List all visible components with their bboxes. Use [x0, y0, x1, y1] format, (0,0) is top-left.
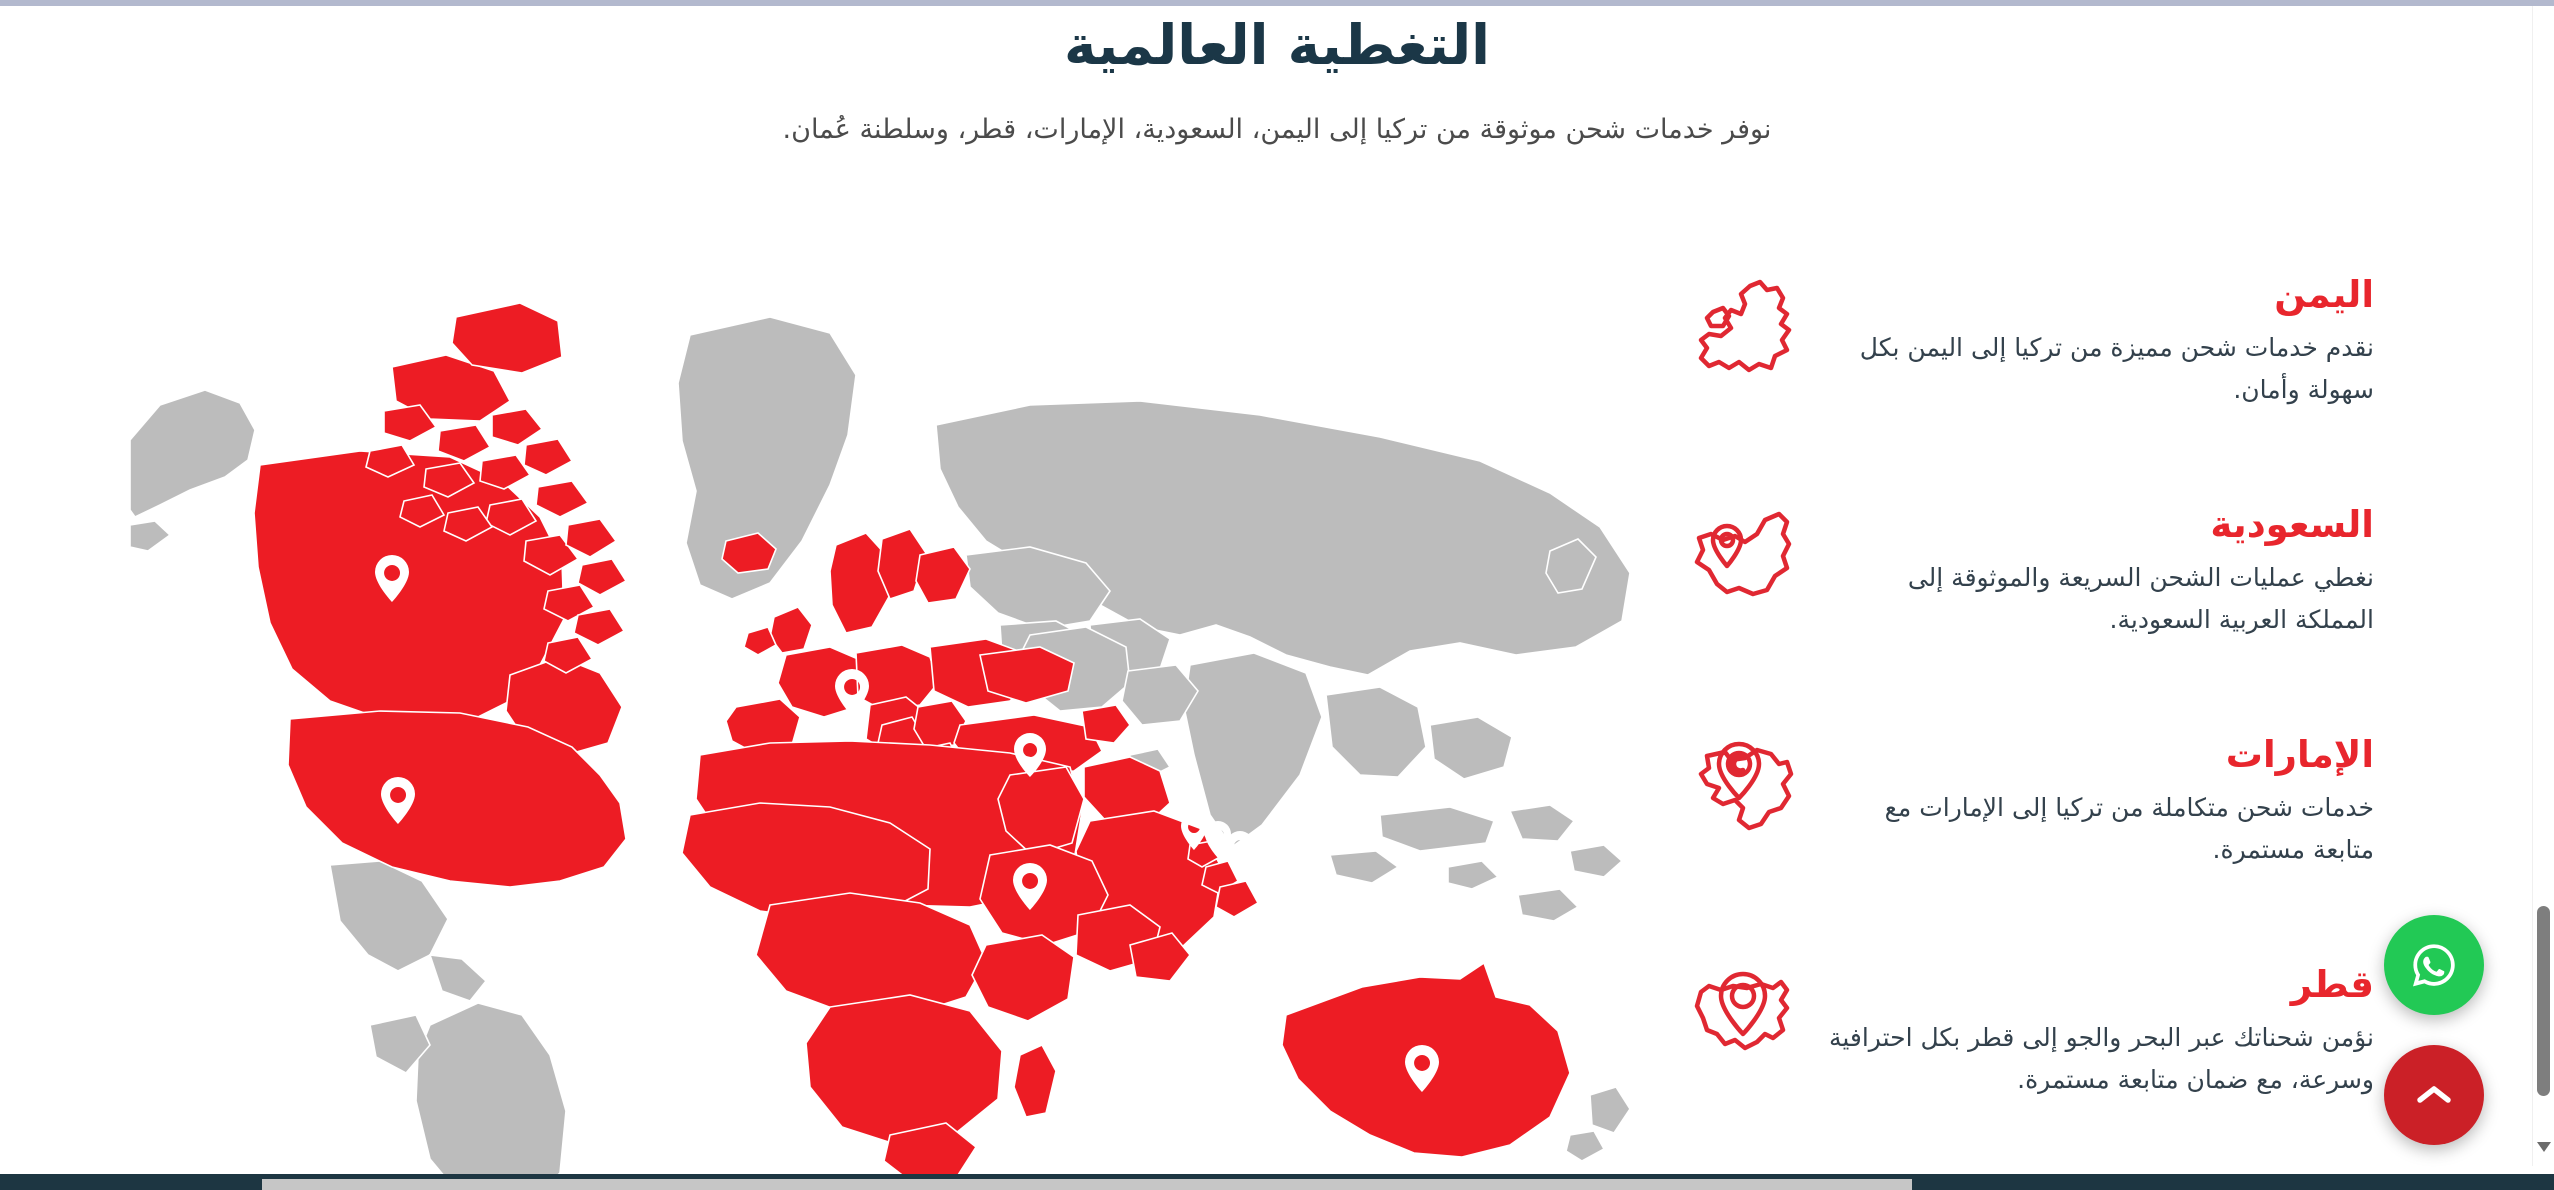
chevron-up-icon	[2414, 1082, 2454, 1108]
country-text-qatar: قطر نؤمن شحناتك عبر البحر والجو إلى قطر …	[1828, 960, 2374, 1100]
country-item-qatar[interactable]: قطر نؤمن شحناتك عبر البحر والجو إلى قطر …	[1684, 960, 2374, 1190]
vertical-scrollbar[interactable]	[2532, 6, 2554, 1166]
country-text-yemen: اليمن نقدم خدمات شحن مميزة من تركيا إلى …	[1828, 270, 2374, 410]
country-name-uae: الإمارات	[1828, 732, 2374, 778]
browser-top-strip	[0, 0, 2554, 6]
country-name-saudi: السعودية	[1828, 502, 2374, 548]
country-desc-yemen: نقدم خدمات شحن مميزة من تركيا إلى اليمن …	[1828, 327, 2374, 410]
section-header: التغطية العالمية نوفر خدمات شحن موثوقة م…	[0, 14, 2554, 151]
yemen-map-outline-icon	[1684, 270, 1802, 380]
country-item-yemen[interactable]: اليمن نقدم خدمات شحن مميزة من تركيا إلى …	[1684, 270, 2374, 500]
horizontal-scrollbar[interactable]	[0, 1178, 2554, 1190]
country-desc-qatar: نؤمن شحناتك عبر البحر والجو إلى قطر بكل …	[1828, 1017, 2374, 1100]
world-map-svg	[130, 255, 1650, 1190]
page-title: التغطية العالمية	[0, 14, 2554, 77]
country-coverage-list: اليمن نقدم خدمات شحن مميزة من تركيا إلى …	[1684, 270, 2374, 1190]
country-item-saudi[interactable]: السعودية نغطي عمليات الشحن السريعة والمو…	[1684, 500, 2374, 730]
uae-map-pin-crescent-icon	[1684, 730, 1802, 840]
horizontal-scrollbar-thumb[interactable]	[262, 1179, 1912, 1190]
saudi-map-pin-outline-icon	[1684, 500, 1802, 610]
whatsapp-button[interactable]	[2384, 915, 2484, 1015]
whatsapp-icon	[2406, 937, 2462, 993]
country-name-yemen: اليمن	[1828, 272, 2374, 318]
vertical-scrollbar-thumb[interactable]	[2537, 906, 2550, 1096]
scroll-to-top-button[interactable]	[2384, 1045, 2484, 1145]
page-root: التغطية العالمية نوفر خدمات شحن موثوقة م…	[0, 0, 2554, 1190]
world-coverage-map[interactable]	[130, 255, 1650, 1190]
country-desc-uae: خدمات شحن متكاملة من تركيا إلى الإمارات …	[1828, 787, 2374, 870]
country-item-uae[interactable]: الإمارات خدمات شحن متكاملة من تركيا إلى …	[1684, 730, 2374, 960]
country-desc-saudi: نغطي عمليات الشحن السريعة والموثوقة إلى …	[1828, 557, 2374, 640]
qatar-map-pin-outline-icon	[1684, 960, 1802, 1070]
country-text-uae: الإمارات خدمات شحن متكاملة من تركيا إلى …	[1828, 730, 2374, 870]
country-text-saudi: السعودية نغطي عمليات الشحن السريعة والمو…	[1828, 500, 2374, 640]
scrollbar-down-arrow-icon[interactable]	[2537, 1142, 2551, 1152]
page-subtitle: نوفر خدمات شحن موثوقة من تركيا إلى اليمن…	[0, 110, 2554, 151]
country-name-qatar: قطر	[1828, 962, 2374, 1008]
